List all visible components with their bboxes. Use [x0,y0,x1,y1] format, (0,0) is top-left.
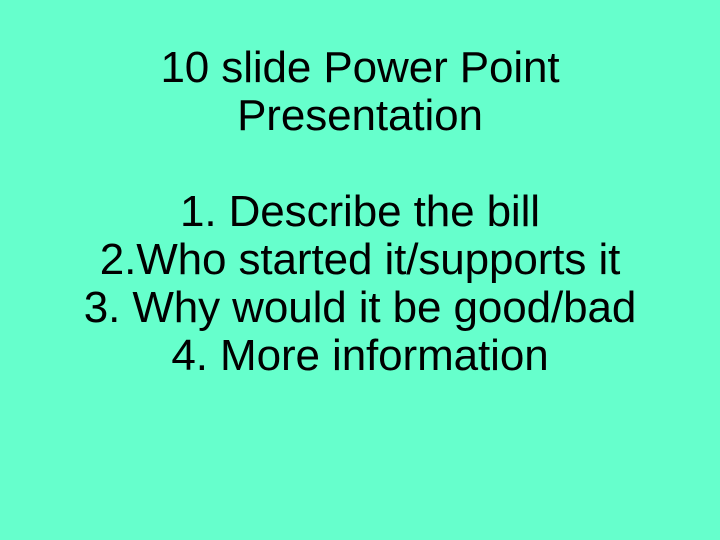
presentation-slide: 10 slide Power Point Presentation 1. Des… [0,0,720,540]
slide-body-item-4: 4. More information [0,332,720,380]
slide-body-item-1: 1. Describe the bill [0,188,720,236]
slide-title-line-2: Presentation [0,92,720,140]
slide-body-item-3: 3. Why would it be good/bad [0,284,720,332]
slide-text-block: 10 slide Power Point Presentation 1. Des… [0,44,720,380]
slide-blank-line [0,140,720,188]
slide-title-line-1: 10 slide Power Point [0,44,720,92]
slide-body-item-2: 2.Who started it/supports it [0,236,720,284]
